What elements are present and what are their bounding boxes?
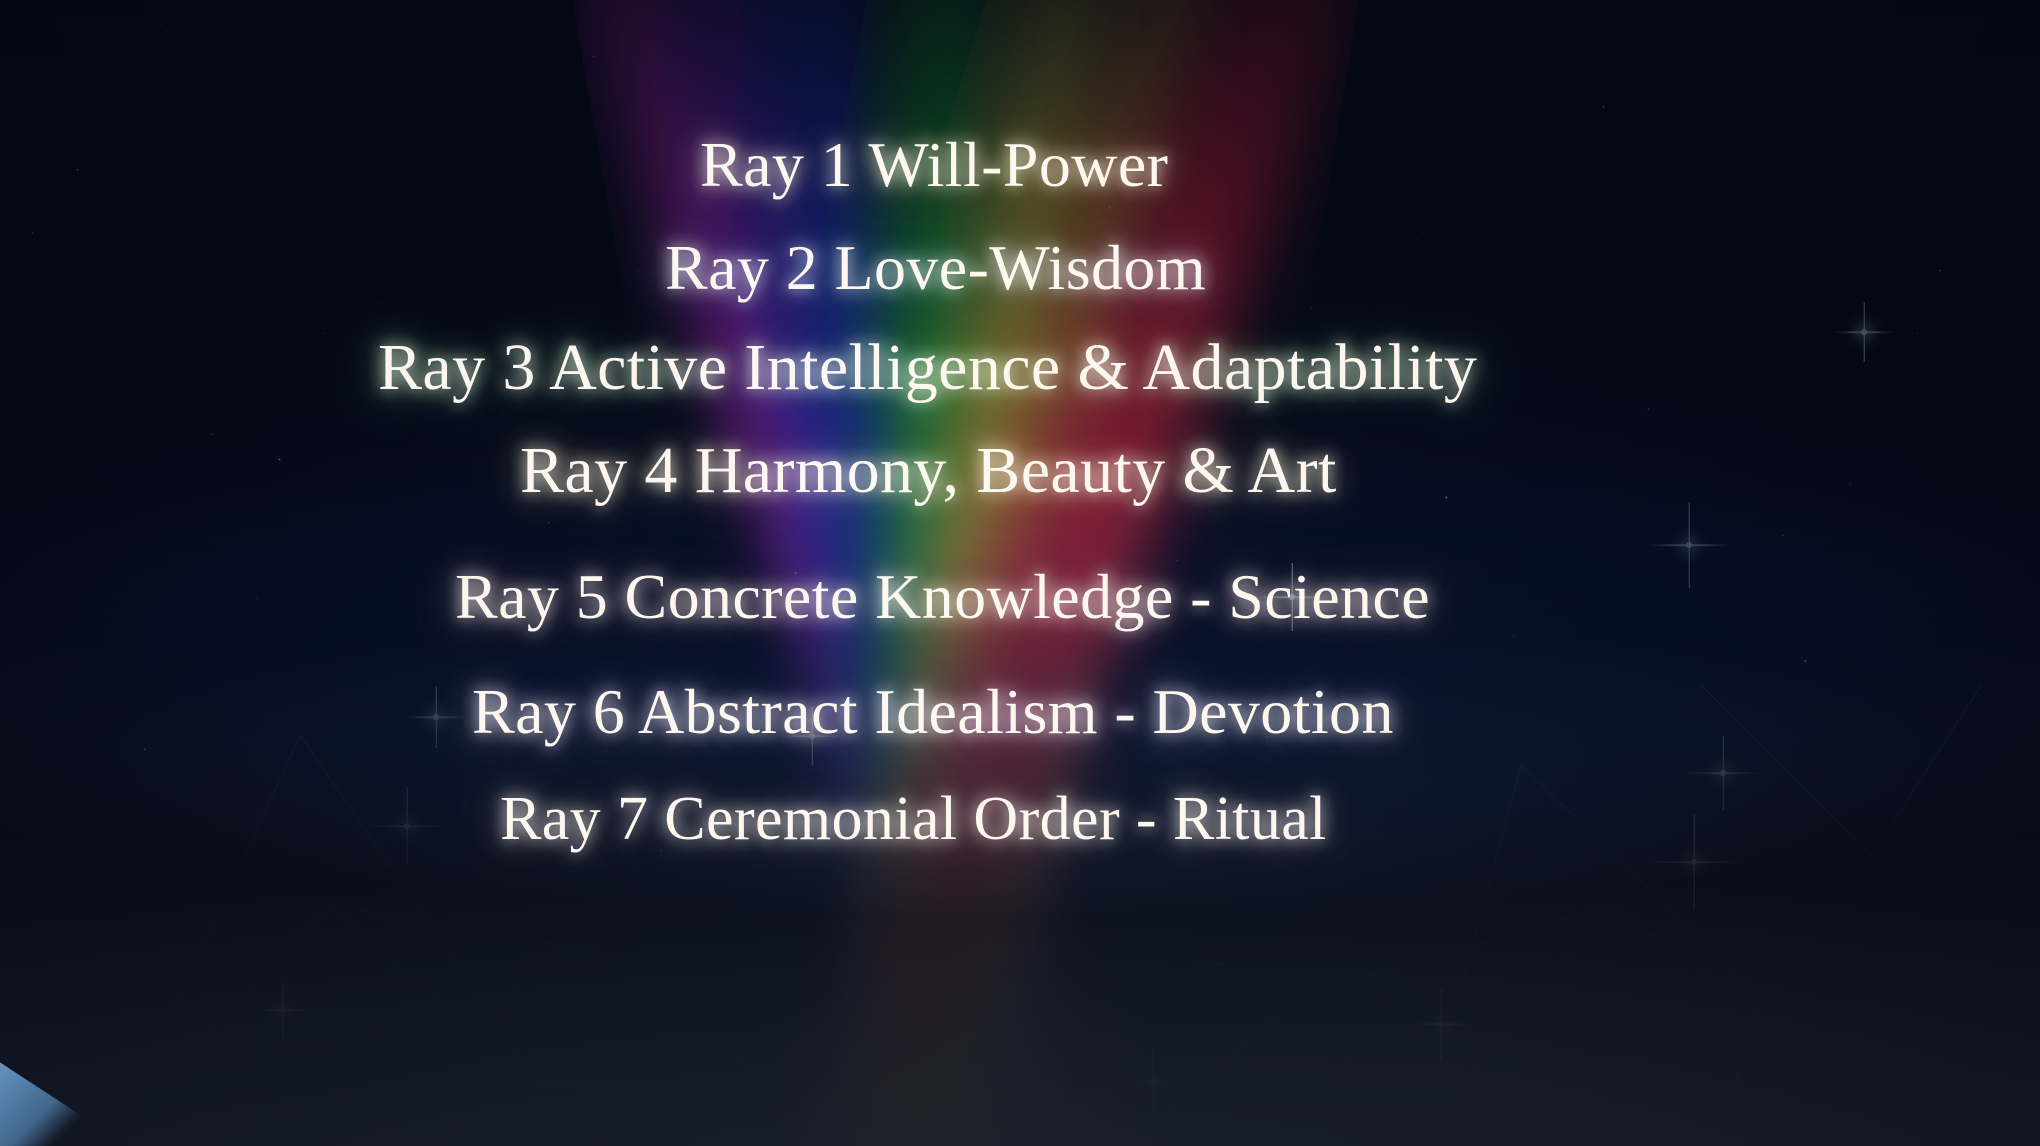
ray-line-3-text: Ray 3 Active Intelligence & Adaptability: [378, 335, 1477, 401]
ray-line-7: Ray 7 Ceremonial Order - Ritual: [500, 788, 1327, 850]
ray-line-3: Ray 3 Active Intelligence & Adaptability: [378, 335, 1477, 401]
ray-line-1-text: Ray 1 Will-Power: [700, 133, 1168, 197]
ray-line-2-text: Ray 2 Love-Wisdom: [665, 236, 1206, 300]
ray-line-1: Ray 1 Will-Power: [700, 133, 1168, 197]
ray-line-7-text: Ray 7 Ceremonial Order - Ritual: [500, 788, 1327, 850]
ray-line-6: Ray 6 Abstract Idealism - Devotion: [472, 680, 1394, 744]
ray-line-4-text: Ray 4 Harmony, Beauty & Art: [520, 438, 1337, 504]
ray-line-2: Ray 2 Love-Wisdom: [665, 236, 1206, 300]
seven-rays-scene: Ray 1 Will-Power Ray 2 Love-Wisdom Ray 3…: [0, 0, 2040, 1146]
ray-line-5-text: Ray 5 Concrete Knowledge - Science: [455, 565, 1430, 629]
ray-line-5: Ray 5 Concrete Knowledge - Science: [455, 565, 1430, 629]
ray-line-4: Ray 4 Harmony, Beauty & Art: [520, 438, 1337, 504]
ray-line-6-text: Ray 6 Abstract Idealism - Devotion: [472, 680, 1394, 744]
